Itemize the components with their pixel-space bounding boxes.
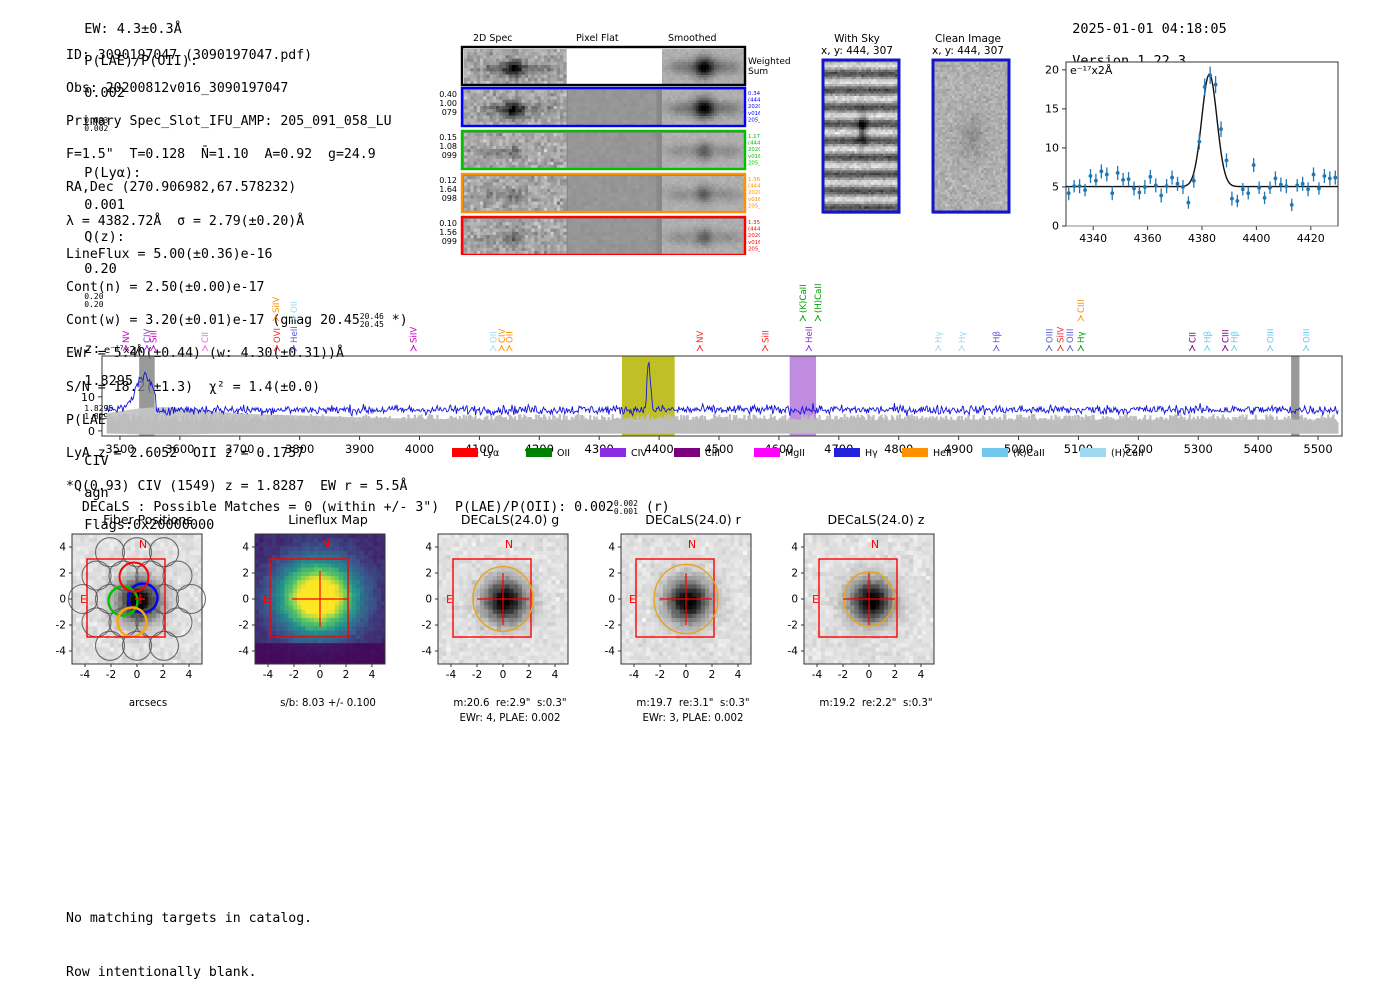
spec2d-row-meta-3-2: 20200812 bbox=[748, 233, 760, 239]
panel-3-north: N bbox=[688, 538, 696, 551]
spectrum-ytick-0: 0 bbox=[88, 425, 95, 438]
line-marker-label-OIII-30: OIII bbox=[1302, 329, 1312, 343]
panel-4-ytick-4: 4 bbox=[791, 542, 798, 554]
spec2d-row-meta-3-1: (444, 133) bbox=[748, 227, 760, 233]
panel-caption2-decals-r: EWr: 3, PLAE: 0.002 bbox=[603, 713, 783, 724]
line-marker-label-CIII-23: CIII bbox=[1077, 299, 1087, 313]
line-marker-bracket-19 bbox=[993, 345, 999, 351]
cutout-clean-coords: x, y: 444, 307 bbox=[932, 45, 1004, 57]
line-marker-bracket-21 bbox=[1057, 345, 1063, 351]
panel-3-xtick-1: -2 bbox=[655, 669, 665, 681]
spec2d-row-meta-0-3: v016_03 bbox=[748, 111, 760, 117]
panel-1-north: N bbox=[322, 538, 330, 551]
line-marker-bracket-4 bbox=[273, 315, 279, 321]
cutout-clean-image-title: Clean Image bbox=[935, 33, 1001, 45]
spec2d-row-meta-1-4: 205_LU_014 bbox=[748, 160, 760, 166]
line-marker-bracket-10 bbox=[499, 345, 505, 351]
panel-4-ytick-3: 2 bbox=[791, 568, 798, 580]
panel-3-east: E bbox=[629, 593, 636, 606]
info-line-seeing: F=1.5" T=0.128 N̄=1.10 A=0.92 g=24.9 bbox=[66, 147, 408, 164]
panel-0-ytick-3: 2 bbox=[59, 568, 66, 580]
spec2d-row-meta-0-1: (444, 307) bbox=[748, 98, 760, 104]
legend-label-Hγ: Hγ bbox=[865, 448, 878, 459]
spec2d-row-3 bbox=[462, 217, 746, 255]
panel-1-xtick-1: -2 bbox=[289, 669, 299, 681]
panel-caption2-decals-g: EWr: 4, PLAE: 0.002 bbox=[420, 713, 600, 724]
info-line-lineflux: LineFlux = 5.00(±0.36)e-16 bbox=[66, 247, 408, 264]
spec2d-row-0 bbox=[462, 88, 746, 128]
panel-4-north: N bbox=[871, 538, 879, 551]
spec2d-row-meta-1-0: 1.17" bbox=[748, 134, 760, 140]
legend-label-Lyα: Lyα bbox=[483, 448, 499, 459]
spectrum-xtick-3800: 3800 bbox=[285, 442, 314, 456]
line-marker-label-(H)CaII-16: (H)CaII bbox=[814, 283, 824, 313]
panel-2-ytick-3: 2 bbox=[425, 568, 432, 580]
panel-2-east: E bbox=[446, 593, 453, 606]
panel-0-xtick-4: 4 bbox=[186, 669, 193, 681]
info-line-primary: Primary Spec_Slot_IFU_AMP: 205_091_058_L… bbox=[66, 114, 408, 131]
line-marker-label-Hγ-24: Hγ bbox=[1077, 331, 1087, 343]
zoomplot-ytick-0: 0 bbox=[1052, 220, 1059, 233]
panel-1-xtick-0: -4 bbox=[263, 669, 274, 681]
panel-2-xtick-3: 2 bbox=[526, 669, 533, 681]
panel-2-xtick-2: 0 bbox=[500, 669, 507, 681]
panel-2-ytick-2: 0 bbox=[425, 594, 432, 606]
spectrum-xtick-3500: 3500 bbox=[105, 442, 134, 456]
line-marker-label-SiIV-8: SiIV bbox=[410, 327, 420, 343]
spec2d-row-meta-0-0: 0.34" bbox=[748, 91, 760, 97]
line-marker-bracket-2 bbox=[151, 345, 157, 351]
spec2d-row-left-3-2: 099 bbox=[442, 237, 457, 246]
line-marker-label-SiII-2: SiII bbox=[150, 330, 160, 343]
spec2d-row-left-2-1: 1.64 bbox=[439, 185, 457, 194]
line-marker-label-SiIV-21: SiIV bbox=[1057, 327, 1067, 343]
panel-4-xtick-1: -2 bbox=[838, 669, 848, 681]
panel-2-xtick-0: -4 bbox=[446, 669, 457, 681]
legend-swatch-Hγ bbox=[834, 448, 860, 457]
line-marker-label-Hβ-19: Hβ bbox=[993, 331, 1003, 343]
line-marker-label-SiII-13: SiII bbox=[761, 330, 771, 343]
panel-title-fiber-positions: Fiber Positions bbox=[58, 512, 238, 527]
panel-3-ytick-3: 2 bbox=[608, 568, 615, 580]
panel-0-xtick-2: 0 bbox=[134, 669, 141, 681]
legend-label-OII: OII bbox=[557, 448, 570, 459]
legend-label-CIII: CIII bbox=[705, 448, 720, 459]
spec2d-row-left-0-2: 079 bbox=[442, 108, 457, 117]
legend-label-(K)CaII: (K)CaII bbox=[1013, 448, 1045, 459]
spec2d-row-2 bbox=[462, 174, 746, 214]
spec2d-row-left-2-0: 0.12 bbox=[439, 176, 457, 185]
panel-2-north: N bbox=[505, 538, 513, 551]
spec2d-row-meta-0-2: 20200812 bbox=[748, 104, 760, 110]
panel-4-ytick-2: 0 bbox=[791, 594, 798, 606]
info-line-obs: Obs: 20200812v016_3090197047 bbox=[66, 81, 408, 98]
legend-label-CIV: CIV bbox=[631, 448, 647, 459]
panel-3-xtick-2: 0 bbox=[683, 669, 690, 681]
panel-4-xtick-2: 0 bbox=[866, 669, 873, 681]
line-marker-bracket-30 bbox=[1303, 345, 1309, 351]
spec2d-row-left-3-1: 1.56 bbox=[439, 228, 457, 237]
cutout-clean-image bbox=[933, 60, 1010, 214]
panel-caption-decals-z: m:19.2 re:2.2" s:0.3" bbox=[786, 698, 966, 709]
spec2d-row-left-3-0: 0.10 bbox=[439, 219, 457, 228]
spec2d-row-meta-2-1: (444, 142) bbox=[748, 184, 760, 190]
line-marker-bracket-7 bbox=[291, 345, 297, 351]
spec2d-row-meta-2-3: v016_07 bbox=[748, 197, 760, 203]
zoomplot-xtick-4360: 4360 bbox=[1134, 232, 1162, 245]
line-marker-label-OIII-22: OIII bbox=[1066, 329, 1076, 343]
line-marker-label-OIII-20: OIII bbox=[1045, 329, 1055, 343]
panel-0-xtick-1: -2 bbox=[106, 669, 116, 681]
spec2d-row-left-2-2: 098 bbox=[442, 194, 457, 203]
line-marker-label-SiIV-4: SiIV bbox=[272, 297, 282, 313]
footer-block: No matching targets in catalog. Row inte… bbox=[66, 874, 312, 1000]
legend-label-MgII: MgII bbox=[785, 448, 805, 459]
legend-swatch-HeII bbox=[902, 448, 928, 457]
line-marker-bracket-29 bbox=[1267, 345, 1273, 351]
panel-2-ytick-1: -2 bbox=[422, 620, 432, 632]
spec2d-row-meta-1-3: v016_01 bbox=[748, 154, 760, 160]
legend-label-(H)CaII: (H)CaII bbox=[1111, 448, 1144, 459]
legend-swatch-OII bbox=[526, 448, 552, 457]
legend-label-HeII: HeII bbox=[933, 448, 952, 459]
spec2d-row-left-1-0: 0.15 bbox=[439, 133, 457, 142]
line-marker-bracket-25 bbox=[1189, 345, 1195, 351]
line-marker-bracket-16 bbox=[815, 315, 821, 321]
legend-swatch-CIII bbox=[674, 448, 700, 457]
line-marker-bracket-14 bbox=[800, 315, 806, 321]
spec2d-row-left-1-1: 1.08 bbox=[439, 142, 457, 151]
panel-3-ytick-2: 0 bbox=[608, 594, 615, 606]
zoomplot-ytick-15: 15 bbox=[1045, 102, 1059, 115]
legend-swatch-MgII bbox=[754, 448, 780, 457]
spec2d-row-meta-1-2: 20200812 bbox=[748, 147, 760, 153]
line-marker-bracket-8 bbox=[410, 345, 416, 351]
panel-3-xtick-0: -4 bbox=[629, 669, 640, 681]
line-marker-label-(K)CaII-14: (K)CaII bbox=[799, 284, 809, 313]
panel-4-east: E bbox=[812, 593, 819, 606]
line-marker-bracket-9 bbox=[490, 345, 496, 351]
panel-0-ytick-4: 4 bbox=[59, 542, 66, 554]
panel-4-ytick-1: -2 bbox=[788, 620, 798, 632]
panel-2-xtick-1: -2 bbox=[472, 669, 482, 681]
panel-1-ytick-0: -4 bbox=[239, 646, 250, 658]
legend-swatch-CIV bbox=[600, 448, 626, 457]
panel-xlabel-arcsecs: arcsecs bbox=[58, 698, 238, 709]
report-datetime: 2025-01-01 04:18:05 bbox=[1072, 21, 1226, 37]
spectrum-flux-trace bbox=[106, 363, 1339, 417]
panel-title-decals-r: DECaLS(24.0) r bbox=[603, 512, 783, 527]
line-marker-bracket-6 bbox=[274, 345, 280, 351]
legend-swatch-(H)CaII bbox=[1080, 448, 1106, 457]
line-marker-bracket-15 bbox=[806, 345, 812, 351]
line-marker-bracket-1 bbox=[144, 345, 150, 351]
panel-title-decals-g: DECaLS(24.0) g bbox=[420, 512, 600, 527]
panel-1-ytick-3: 2 bbox=[242, 568, 249, 580]
zoomplot-frame bbox=[1066, 62, 1338, 226]
zoomplot-xtick-4380: 4380 bbox=[1188, 232, 1216, 245]
panel-title-decals-z: DECaLS(24.0) z bbox=[786, 512, 966, 527]
line-marker-bracket-3 bbox=[202, 345, 208, 351]
zoomplot-ytick-20: 20 bbox=[1045, 63, 1059, 76]
panel-1-ytick-2: 0 bbox=[242, 594, 249, 606]
panel-4-ytick-0: -4 bbox=[788, 646, 799, 658]
zoomplot-annotation: e⁻¹⁷x2Å bbox=[1070, 64, 1113, 77]
panel-1-xtick-2: 0 bbox=[317, 669, 324, 681]
panel-1-xtick-4: 4 bbox=[369, 669, 376, 681]
line-marker-bracket-17 bbox=[935, 345, 941, 351]
line-marker-label-CII-25: CII bbox=[1188, 332, 1198, 343]
line-marker-bracket-11 bbox=[506, 345, 512, 351]
line-marker-label-OII-11: OII bbox=[506, 331, 516, 343]
spec2d-weighted-sum-label: WeightedSum bbox=[748, 57, 791, 77]
panel-1-ytick-1: -2 bbox=[239, 620, 249, 632]
spec2d-row-left-1-2: 099 bbox=[442, 151, 457, 160]
panel-4-xtick-3: 2 bbox=[892, 669, 899, 681]
panel-0-ytick-1: -2 bbox=[56, 620, 66, 632]
spec2d-row-1 bbox=[462, 131, 746, 171]
zoomplot-xtick-4400: 4400 bbox=[1242, 232, 1270, 245]
line-marker-label-Hβ-28: Hβ bbox=[1230, 331, 1240, 343]
spec2d-row-weighted-sum bbox=[462, 47, 746, 86]
panel-caption-decals-r: m:19.7 re:3.1" s:0.3" bbox=[603, 698, 783, 709]
panel-2-ytick-0: -4 bbox=[422, 646, 433, 658]
cutout-with-sky-image bbox=[823, 60, 900, 214]
spec2d-row-meta-3-0: 1.35" bbox=[748, 220, 760, 226]
panel-3-ytick-0: -4 bbox=[605, 646, 616, 658]
line-marker-bracket-28 bbox=[1231, 345, 1237, 351]
legend-swatch-Lyα bbox=[452, 448, 478, 457]
line-marker-bracket-27 bbox=[1222, 345, 1228, 351]
line-marker-bracket-23 bbox=[1078, 315, 1084, 321]
line-marker-label-Hγ-17: Hγ bbox=[934, 331, 944, 343]
panel-caption-decals-g: m:20.6 re:2.9" s:0.3" bbox=[420, 698, 600, 709]
zoomplot-ytick-5: 5 bbox=[1052, 180, 1059, 193]
line-marker-label-HeII-15: HeII bbox=[805, 326, 815, 343]
line-marker-label-OIII-29: OIII bbox=[1266, 329, 1276, 343]
line-marker-label-OVI-6: OVI bbox=[273, 328, 283, 343]
panel-2-ytick-4: 4 bbox=[425, 542, 432, 554]
panel-0-xtick-3: 2 bbox=[160, 669, 167, 681]
panel-caption-lineflux: s/b: 8.03 +/- 0.100 bbox=[238, 698, 418, 709]
info-line-radec: RA,Dec (270.906982,67.578232) bbox=[66, 180, 408, 197]
spec2d-panel: 2D Spec Pixel Flat Smoothed 0.401.000790… bbox=[430, 33, 760, 255]
line-marker-bracket-24 bbox=[1078, 345, 1084, 351]
zoomplot-xtick-4340: 4340 bbox=[1079, 232, 1107, 245]
spectrum-xtick-3900: 3900 bbox=[345, 442, 374, 456]
panel-3-xtick-4: 4 bbox=[735, 669, 742, 681]
line-marker-label-HeII-7: HeII bbox=[290, 326, 300, 343]
cutout-with-sky-coords: x, y: 444, 307 bbox=[821, 45, 893, 57]
line-marker-label-Hβ-26: Hβ bbox=[1203, 331, 1213, 343]
line-marker-label-OII-5: OII bbox=[290, 301, 300, 313]
footer-line-2: Row intentionally blank. bbox=[66, 964, 312, 982]
spectrum-xtick-3700: 3700 bbox=[225, 442, 254, 456]
line-marker-bracket-22 bbox=[1067, 345, 1073, 351]
panel-0-ytick-0: -4 bbox=[56, 646, 67, 658]
spec2d-row-meta-1-1: (444, 133) bbox=[748, 141, 760, 147]
spec2d-row-left-0-0: 0.40 bbox=[439, 90, 457, 99]
spectrum-ytick-10: 10 bbox=[81, 391, 95, 404]
line-marker-bracket-20 bbox=[1046, 345, 1052, 351]
spectrum-xtick-3600: 3600 bbox=[165, 442, 194, 456]
line-marker-bracket-12 bbox=[697, 345, 703, 351]
spec2d-row-meta-2-0: 1.36" bbox=[748, 177, 760, 183]
zoomplot-xtick-4420: 4420 bbox=[1297, 232, 1325, 245]
spec2d-row-meta-3-3: v016_02 bbox=[748, 240, 760, 246]
panel-0-ytick-2: 0 bbox=[59, 594, 66, 606]
panel-1-ytick-4: 4 bbox=[242, 542, 249, 554]
panel-3-ytick-1: -2 bbox=[605, 620, 615, 632]
line-marker-bracket-13 bbox=[762, 345, 768, 351]
spectrum-annotation: e⁻¹⁷x2Å bbox=[104, 343, 143, 356]
panel-title-lineflux-map: Lineflux Map bbox=[238, 512, 418, 527]
line-marker-bracket-26 bbox=[1204, 345, 1210, 351]
spec2d-row-meta-2-4: 205_LU_015 bbox=[748, 203, 760, 209]
footer-line-1: No matching targets in catalog. bbox=[66, 910, 312, 928]
panel-2-xtick-4: 4 bbox=[552, 669, 559, 681]
line-marker-label-NV-12: NV bbox=[696, 331, 706, 343]
cutout-title-clean-image: Clean Image x, y: 444, 307 bbox=[920, 33, 1016, 57]
panel-4-xtick-4: 4 bbox=[918, 669, 925, 681]
info-line-lambda: λ = 4382.72Å σ = 2.79(±0.20)Å bbox=[66, 214, 408, 231]
line-marker-bracket-5 bbox=[291, 315, 297, 321]
spec2d-row-meta-3-4: 205_LU_014 bbox=[748, 246, 760, 252]
cutout-with-sky-title: With Sky bbox=[834, 33, 880, 45]
spec2d-row-left-0-1: 1.00 bbox=[439, 99, 457, 108]
panel-4-xtick-0: -4 bbox=[812, 669, 823, 681]
panel-1-east: E bbox=[263, 593, 270, 606]
line-marker-label-CII-3: CII bbox=[201, 332, 211, 343]
spec2d-row-meta-2-2: 20200812 bbox=[748, 190, 760, 196]
panel-0-xtick-0: -4 bbox=[80, 669, 91, 681]
panel-0-north: N bbox=[139, 538, 147, 551]
line-marker-label-Hγ-18: Hγ bbox=[958, 331, 968, 343]
spec2d-row-meta-0-4: 205_LU_034 bbox=[748, 117, 760, 123]
panel-0-east: E bbox=[80, 593, 87, 606]
line-marker-bracket-18 bbox=[959, 345, 965, 351]
zoomplot-ytick-10: 10 bbox=[1045, 141, 1059, 154]
cutout-title-with-sky: With Sky x, y: 444, 307 bbox=[812, 33, 902, 57]
line-marker-label-NV-0: NV bbox=[122, 331, 132, 343]
panel-1-xtick-3: 2 bbox=[343, 669, 350, 681]
panel-3-xtick-3: 2 bbox=[709, 669, 716, 681]
panel-3-ytick-4: 4 bbox=[608, 542, 615, 554]
info-line-id: ID: 3090197047 (3090197047.pdf) bbox=[66, 48, 408, 65]
legend-swatch-(K)CaII bbox=[982, 448, 1008, 457]
